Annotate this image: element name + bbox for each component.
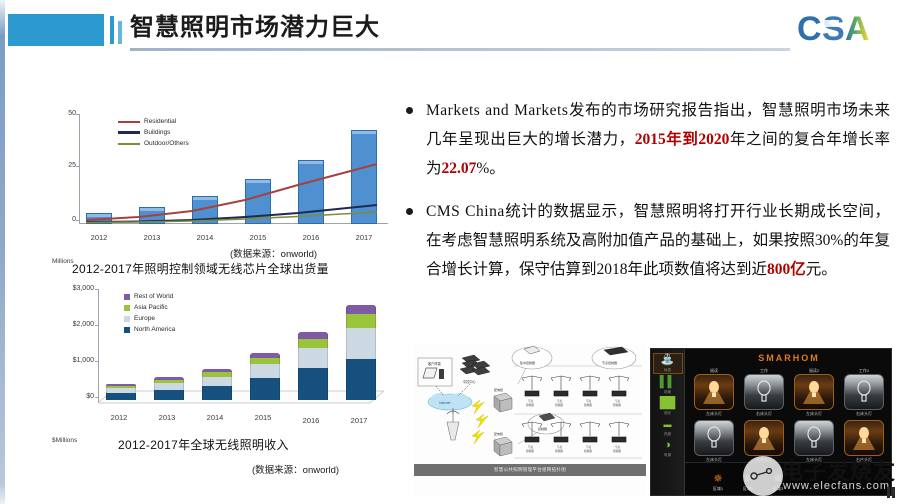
chart1-xtick-2014: 2014 [190,233,220,242]
watermark-logo-icon [743,456,783,496]
seg-north-america [298,368,328,400]
bars-icon: ▌▌ [653,376,683,389]
sidebar-label-rest: 休息 [654,367,682,373]
svg-text:配电柜: 配电柜 [494,387,503,392]
chart1-xtick-2015: 2015 [243,233,273,242]
seg-rest-of-world [346,305,376,314]
watermark: 电子发烧友 www.elecfans.com [737,452,897,502]
svg-text:节点: 节点 [528,399,534,403]
chart1-caption: 2012-2017年照明控制领域无线芯片全球出货量 [72,260,329,277]
chart2-caption: 2012-2017年全球无线照明收入 [118,436,289,453]
bullet-1-part-6: %。 [476,160,504,177]
bulb-off-icon[interactable] [794,420,834,456]
chart2-xtick-2015: 2015 [241,413,285,422]
sidebar-item-scene[interactable]: ▌▌ 场景 [653,376,683,395]
slider-icon: ▬ [653,418,683,431]
chart2-bar-2013 [154,377,184,400]
header-tick-short-icon [118,21,122,44]
chart1-xtick-2017: 2017 [349,233,379,242]
seg-europe [298,348,328,368]
sidebar-item-power[interactable]: ◑ 电源 [653,439,683,458]
chart1-source-note: (数据来源：onworld) [230,246,317,260]
svg-text:Internet: Internet [439,401,451,405]
svg-text:控制器: 控制器 [555,449,563,453]
lamp-tile-cell[interactable]: 左床头灯 [691,420,737,464]
seg-north-america [106,393,136,400]
chart1-xtick-2013: 2013 [137,233,167,242]
seg-north-america [346,359,376,400]
lamp-icon: ⛲ [654,354,682,367]
svg-text:控制器: 控制器 [526,403,534,407]
header-divider [130,48,790,51]
power-icon: ◑ [653,439,683,452]
sidebar-item-dimming[interactable]: ██ 调光 [653,397,683,416]
chart2-bar-2012 [106,384,136,400]
sidebar-label-brightness: 亮度 [653,431,683,437]
chart2-ytick-3000: $3,000 [52,285,94,292]
chart1-ytick-50: 50 [52,110,76,117]
bulb-off-icon[interactable] [844,374,884,410]
tile-label: 阅读2 [791,367,837,374]
sidebar-item-brightness[interactable]: ▬ 亮度 [653,418,683,437]
svg-text:节点: 节点 [528,445,534,449]
chart-global-wireless-lighting-revenue: Rest of World Asia Pacific Europe North … [52,285,392,430]
svg-text:控制器: 控制器 [613,403,621,407]
chart1-xtick-2016: 2016 [296,233,326,242]
chart2-xtick-2014: 2014 [193,413,237,422]
chart2-bar-2016 [298,332,328,400]
seg-europe [250,364,280,378]
tile-label: 工作2 [841,367,887,374]
chart1-ytick-25: 25 [52,162,76,169]
chart2-bar-2017 [346,305,376,400]
seg-rest-of-world [298,332,328,339]
header-tick-tall-icon [110,16,114,44]
seg-north-america [202,386,232,400]
svg-text:A: A [845,10,870,48]
tile-sublabel: 右床头灯 [841,410,887,418]
bullet-item-1: Markets and Markets发布的市场研究报告指出，智慧照明市场未来几… [400,96,890,183]
bullet-2-part-1: CMS China [426,203,505,220]
svg-text:控制器: 控制器 [538,426,547,431]
svg-text:节点: 节点 [557,399,563,403]
svg-text:节点: 节点 [615,399,621,403]
bulb-off-icon[interactable] [744,374,784,410]
chart2-ytick-0: $0 [52,393,94,400]
bullet-1-highlight-cagr: 22.07 [442,160,477,177]
tile-label: 工作 [741,367,787,374]
lamp-tile-cell[interactable]: 阅读 左床头灯 [691,367,737,418]
sidebar-label-dimming: 调光 [653,410,683,416]
bullet-2-part-4: 元。 [806,261,837,278]
bulb-on-icon[interactable] [694,374,734,410]
levels-icon: ██ [653,397,683,410]
svg-text:节点: 节点 [586,399,592,403]
chart1-trend-lines [80,118,386,224]
sidebar-label-scene: 场景 [653,389,683,395]
bulb-on-icon[interactable] [744,420,784,456]
svg-text:控制器: 控制器 [526,449,534,453]
bulb-on-icon[interactable] [844,420,884,456]
chart2-ytick-2000: $2,000 [52,321,94,328]
tile-sublabel: 左床头灯 [691,410,737,418]
zone-button-1[interactable]: ✵ 区域1 [703,473,733,492]
sun-icon: ✵ [703,473,733,485]
chart2-xtick-2017: 2017 [337,416,381,425]
svg-text:集中控制器: 集中控制器 [520,360,535,365]
chart2-y-axis-label: $Millions [52,437,77,444]
chart1-plot-area [80,114,386,224]
network-topology-image: 客户终端 中控中心 Internet [414,344,646,496]
slide-header: 智慧照明市场潜力巨大 C S A [0,0,897,60]
tile-label: 阅读 [691,367,737,374]
chart2-plot-area [98,290,388,400]
chart2-xtick-2016: 2016 [289,416,333,425]
tile-sublabel: 右床头灯 [741,410,787,418]
seg-north-america [250,378,280,400]
chart2-bar-2014 [202,369,232,400]
svg-text:中控中心: 中控中心 [463,379,477,384]
chart-wireless-chip-shipments: Residential Buildings Outdoor/Others 50 … [52,108,392,248]
bullet-item-2: CMS China统计的数据显示，智慧照明将打开行业长期成长空间，在考虑智慧照明… [400,197,890,284]
seg-europe [154,383,184,390]
chart2-bar-2015 [250,353,280,400]
svg-text:节点: 节点 [557,445,563,449]
seg-asia-pacific [298,339,328,348]
svg-text:节点: 节点 [586,445,592,449]
svg-text:控制器: 控制器 [584,449,592,453]
bullet-1-highlight-years: 2015年到2020 [635,131,730,148]
svg-text:控制器: 控制器 [584,403,592,407]
watermark-bars-icon [887,487,895,498]
chart2-xtick-2012: 2012 [97,413,141,422]
tile-sublabel: 左床头灯 [791,410,837,418]
lamp-tile-cell[interactable]: 工作 右床头灯 [741,367,787,418]
lamp-tile-cell[interactable]: 工作2 右床头灯 [841,367,887,418]
chart1-ytick-0: 0 [52,216,76,223]
bulb-off-icon[interactable] [694,420,734,456]
svg-text:C: C [797,10,822,48]
panel-title: SMARHOM [685,353,892,363]
chart2-source-note: (数据来源：onworld) [252,462,339,476]
network-diagram-caption: 智慧公共照明管理平台组网拓扑图 [414,464,646,476]
sidebar-label-power: 电源 [653,452,683,458]
svg-text:节点控制器: 节点控制器 [602,360,617,365]
slide: 智慧照明市场潜力巨大 C S A Residential [0,0,897,504]
bullet-1-part-1: Markets and Markets [426,102,568,119]
lamp-tile-grid: 阅读 左床头灯 工作 右床头灯 阅读2 左床头灯 [691,367,887,464]
lamp-tile-cell[interactable]: 阅读2 左床头灯 [791,367,837,418]
seg-asia-pacific [346,314,376,328]
svg-text:客户终端: 客户终端 [428,361,442,366]
bullet-2-highlight-value: 800亿 [767,261,806,278]
sidebar-item-rest[interactable]: ⛲ 休息 [653,353,683,374]
chart1-xtick-2012: 2012 [84,233,114,242]
panel-sidebar: ⛲ 休息 ▌▌ 场景 ██ 调光 ▬ 亮度 ◑ 电源 [651,349,685,496]
chart2-ytick-1000: $1,000 [52,357,94,364]
bulb-on-icon[interactable] [794,374,834,410]
watermark-url: www.elecfans.com [783,480,890,492]
svg-text:控制器: 控制器 [613,449,621,453]
header-accent-block [8,14,104,46]
page-title: 智慧照明市场潜力巨大 [130,11,380,45]
chart1-y-axis-label: Millions [52,258,74,265]
svg-text:节点: 节点 [615,445,621,449]
slide-left-edge [0,0,5,504]
seg-north-america [154,390,184,400]
chart2-xtick-2013: 2013 [145,413,189,422]
seg-europe [346,328,376,359]
body-text-panel: Markets and Markets发布的市场研究报告指出，智慧照明市场未来几… [400,96,890,298]
seg-europe [202,377,232,386]
svg-text:控制器: 控制器 [555,403,563,407]
csa-logo: C S A [797,6,889,50]
svg-text:S: S [822,10,845,48]
svg-text:配电柜: 配电柜 [494,431,503,436]
zone-label: 区域1 [703,485,733,492]
